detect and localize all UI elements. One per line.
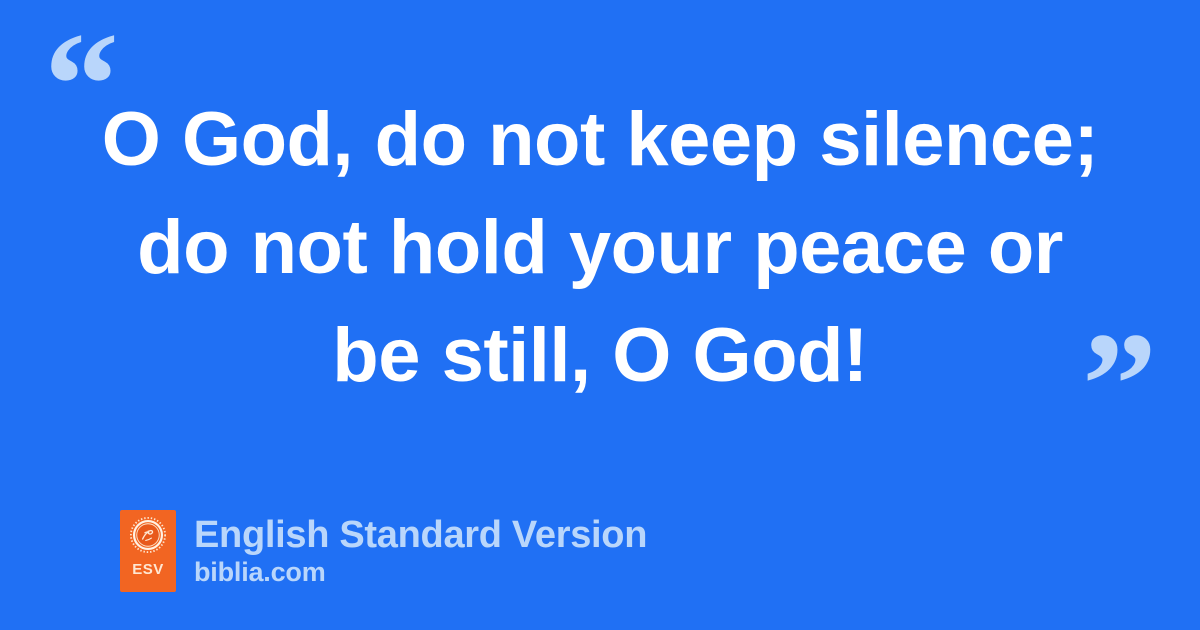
bible-version-name: English Standard Version xyxy=(194,514,647,557)
attribution-footer: ESV English Standard Version biblia.com xyxy=(120,510,647,592)
site-name-link[interactable]: biblia.com xyxy=(194,557,647,588)
verse-text: O God, do not keep silence; do not hold … xyxy=(100,86,1100,410)
esv-seal-icon xyxy=(130,517,166,553)
esv-abbreviation-label: ESV xyxy=(132,562,164,577)
attribution-text: English Standard Version biblia.com xyxy=(194,514,647,589)
verse-container: O God, do not keep silence; do not hold … xyxy=(100,86,1100,410)
closing-quote-icon: ” xyxy=(1082,310,1157,460)
verse-share-card: “ O God, do not keep silence; do not hol… xyxy=(0,0,1200,630)
esv-logo-badge: ESV xyxy=(120,510,176,592)
